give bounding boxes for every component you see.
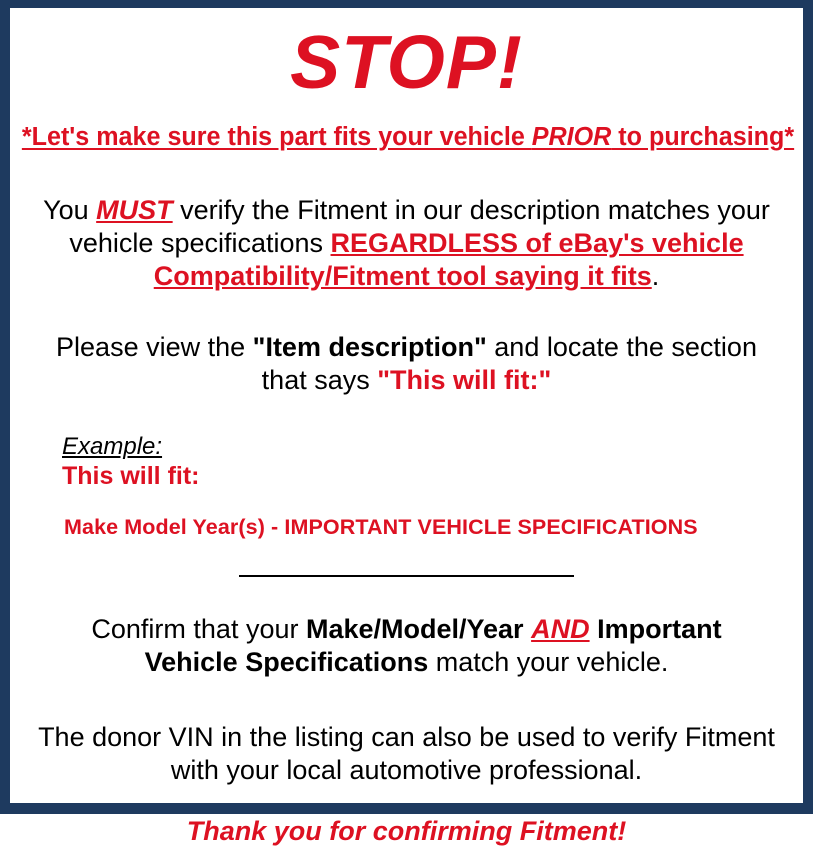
fitment-notice-banner: STOP! *Let's make sure this part fits yo… <box>0 0 813 814</box>
horizontal-divider <box>239 575 574 577</box>
example-spec-line: Make Model Year(s) - IMPORTANT VEHICLE S… <box>62 491 797 540</box>
make-model-year-emphasis: Make/Model/Year <box>306 614 524 644</box>
notice-content: STOP! *Let's make sure this part fits yo… <box>10 8 803 803</box>
confirm-space-1 <box>524 614 532 644</box>
please-view-paragraph: Please view the "Item description" and l… <box>16 293 797 397</box>
confirm-text-1: Confirm that your <box>91 614 306 644</box>
this-will-fit-quote: "This will fit:" <box>377 365 551 395</box>
donor-vin-paragraph: The donor VIN in the listing can also be… <box>16 679 797 787</box>
example-block: Example: This will fit: Make Model Year(… <box>16 397 797 540</box>
confirm-text-2: match your vehicle. <box>428 647 668 677</box>
must-text-3: . <box>652 261 660 291</box>
item-description-emphasis: "Item description" <box>253 332 487 362</box>
confirm-space-2 <box>590 614 598 644</box>
tagline-text-after: to purchasing* <box>611 123 794 151</box>
must-verify-paragraph: You MUST verify the Fitment in our descr… <box>16 152 797 293</box>
example-label: Example: <box>62 433 162 460</box>
stop-headline: STOP! <box>16 8 797 108</box>
and-emphasis: AND <box>531 614 590 644</box>
must-emphasis: MUST <box>96 195 173 225</box>
thank-you-line: Thank you for confirming Fitment! <box>16 787 797 847</box>
example-fit-heading: This will fit: <box>62 460 797 491</box>
example-label-row: Example: <box>62 433 797 460</box>
fitment-tagline: *Let's make sure this part fits your veh… <box>22 108 791 152</box>
tagline-text-before: *Let's make sure this part fits your veh… <box>22 123 532 151</box>
please-text-1: Please view the <box>56 332 253 362</box>
must-text-1: You <box>43 195 96 225</box>
divider-wrap <box>16 540 797 585</box>
confirm-paragraph: Confirm that your Make/Model/Year AND Im… <box>16 585 797 679</box>
tagline-emphasis-prior: PRIOR <box>532 123 612 151</box>
